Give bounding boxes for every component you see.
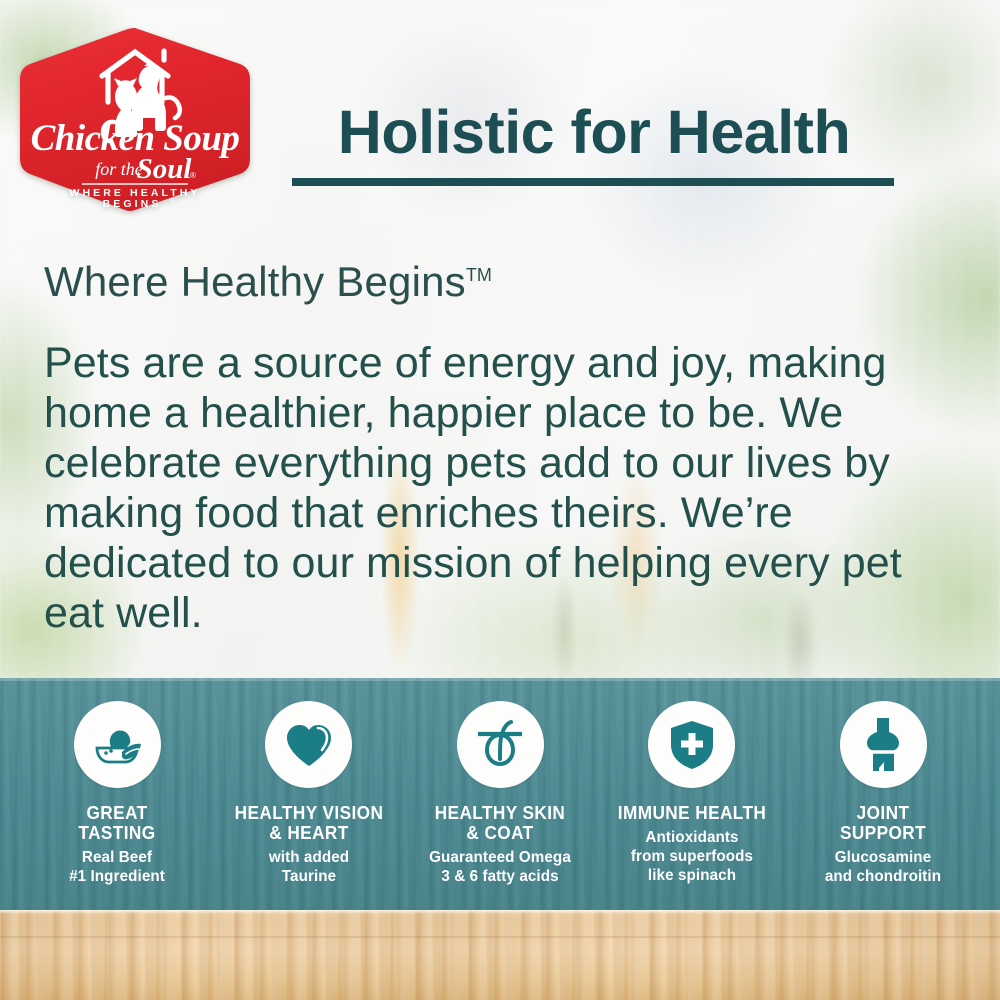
benefit-sub-line-2: 3 & 6 fatty acids <box>412 867 589 886</box>
benefit-sub-line-3: like spinach <box>603 866 780 885</box>
brand-tagline-text: Where Healthy Begins <box>44 258 466 305</box>
benefit-title: JOINT SUPPORT <box>797 803 970 843</box>
benefit-healthy-vision-heart: HEALTHY VISION & HEART with added Taurin… <box>216 701 402 886</box>
benefit-title-line-1: JOINT <box>797 803 970 823</box>
benefits-band: GREAT TASTING Real Beef #1 Ingredient HE… <box>0 678 1000 910</box>
benefit-sub-line-1: Antioxidants <box>603 828 780 847</box>
benefit-sub-line-1: Glucosamine <box>795 848 972 867</box>
trademark-symbol: TM <box>466 265 492 285</box>
title-underline-rule <box>292 178 894 186</box>
benefit-title-line-2: & COAT <box>414 823 587 843</box>
shield-plus-icon <box>648 701 735 788</box>
benefit-healthy-skin-coat: HEALTHY SKIN & COAT Guaranteed Omega 3 &… <box>407 701 593 886</box>
heart-icon <box>265 701 352 788</box>
benefit-sub-line-2: and chondroitin <box>795 867 972 886</box>
benefit-title-line-1: HEALTHY VISION <box>222 803 395 823</box>
mission-line-2: home a healthier, happier place to be. W… <box>44 388 974 438</box>
benefit-title: HEALTHY SKIN & COAT <box>414 803 587 843</box>
benefit-title: HEALTHY VISION & HEART <box>222 803 395 843</box>
benefit-title-line-1: GREAT <box>31 803 204 823</box>
chicken-soup-for-the-soul-logo: Chicken Soup for the Soul ® WHERE HEALTH… <box>18 26 252 213</box>
benefit-title-line-2: TASTING <box>31 823 204 843</box>
benefit-title: GREAT TASTING <box>31 803 204 843</box>
wood-plank-seam <box>0 936 1000 938</box>
mission-line-4: making food that enriches theirs. We’re <box>44 488 974 538</box>
hair-follicle-icon <box>457 701 544 788</box>
mission-line-5: dedicated to our mission of helping ever… <box>44 538 974 588</box>
knee-joint-icon <box>840 701 927 788</box>
benefit-subtitle: Glucosamine and chondroitin <box>795 848 972 886</box>
logo-script-registered: ® <box>190 171 196 180</box>
benefit-title-line-2: SUPPORT <box>797 823 970 843</box>
benefit-sub-line-1: Real Beef <box>29 848 206 867</box>
benefit-sub-line-1: with added <box>220 848 397 867</box>
logo-script-line1: Chicken Soup <box>31 118 240 159</box>
wooden-table-surface <box>0 910 1000 1000</box>
logo-strapline-registered: ® <box>170 197 175 205</box>
wood-grain-texture <box>0 910 1000 1000</box>
benefit-sub-line-2: #1 Ingredient <box>29 867 206 886</box>
benefit-title-line-2: & HEART <box>222 823 395 843</box>
benefit-immune-health: IMMUNE HEALTH Antioxidants from superfoo… <box>599 701 785 885</box>
benefit-subtitle: Real Beef #1 Ingredient <box>29 848 206 886</box>
dog-bowl-food-icon <box>74 701 161 788</box>
benefit-title: IMMUNE HEALTH <box>605 803 778 823</box>
mission-line-6: eat well. <box>44 588 974 638</box>
mission-paragraph: Pets are a source of energy and joy, mak… <box>44 338 974 638</box>
page-title: Holistic for Health <box>292 102 896 163</box>
benefit-great-tasting: GREAT TASTING Real Beef #1 Ingredient <box>24 701 210 886</box>
benefit-subtitle: Guaranteed Omega 3 & 6 fatty acids <box>412 848 589 886</box>
mission-line-1: Pets are a source of energy and joy, mak… <box>44 338 974 388</box>
logo-strapline-line2: BEGINS <box>103 198 162 210</box>
benefit-title-line-1: IMMUNE HEALTH <box>605 803 778 823</box>
benefit-sub-line-1: Guaranteed Omega <box>412 848 589 867</box>
benefit-subtitle: Antioxidants from superfoods like spinac… <box>603 828 780 885</box>
wood-top-highlight <box>0 910 1000 914</box>
benefit-sub-line-2: Taurine <box>220 867 397 886</box>
benefits-row: GREAT TASTING Real Beef #1 Ingredient HE… <box>0 678 1000 910</box>
benefit-sub-line-2: from superfoods <box>603 847 780 866</box>
brand-tagline: Where Healthy BeginsTM <box>44 258 492 306</box>
benefit-title-line-1: HEALTHY SKIN <box>414 803 587 823</box>
mission-line-3: celebrate everything pets add to our liv… <box>44 438 974 488</box>
logo-script-soul: Soul <box>137 153 193 185</box>
benefit-joint-support: JOINT SUPPORT Glucosamine and chondroiti… <box>790 701 976 886</box>
benefit-subtitle: with added Taurine <box>220 848 397 886</box>
